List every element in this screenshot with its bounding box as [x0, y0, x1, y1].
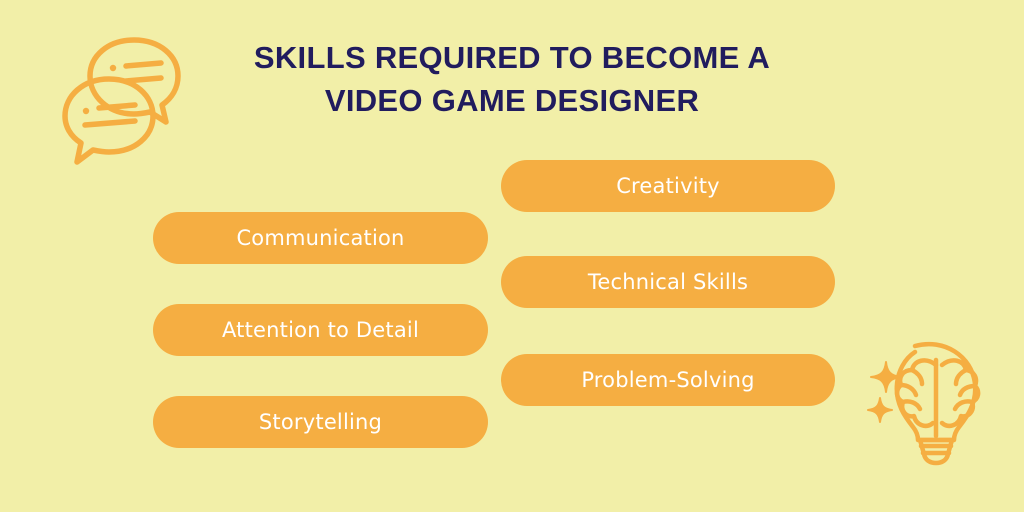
skill-pill-label: Problem-Solving — [581, 368, 754, 392]
skill-pill-label: Communication — [236, 226, 404, 250]
page-title: SKILLS REQUIRED TO BECOME A VIDEO GAME D… — [180, 36, 844, 122]
brain-lightbulb-icon — [862, 332, 998, 468]
skill-pill-problem-solving[interactable]: Problem-Solving — [501, 354, 835, 406]
skill-pill-storytelling[interactable]: Storytelling — [153, 396, 488, 448]
page-title-line-2: VIDEO GAME DESIGNER — [180, 79, 844, 122]
skill-pill-technical-skills[interactable]: Technical Skills — [501, 256, 835, 308]
skill-pill-attention-to-detail[interactable]: Attention to Detail — [153, 304, 488, 356]
skill-pill-label: Creativity — [616, 174, 720, 198]
skill-pill-label: Storytelling — [259, 410, 382, 434]
skill-pill-creativity[interactable]: Creativity — [501, 160, 835, 212]
skill-pill-communication[interactable]: Communication — [153, 212, 488, 264]
skill-pill-label: Technical Skills — [588, 270, 748, 294]
skill-pill-label: Attention to Detail — [222, 318, 419, 342]
page-title-line-1: SKILLS REQUIRED TO BECOME A — [180, 36, 844, 79]
speech-bubbles-icon — [56, 26, 196, 166]
infographic-canvas: SKILLS REQUIRED TO BECOME A VIDEO GAME D… — [0, 0, 1024, 512]
